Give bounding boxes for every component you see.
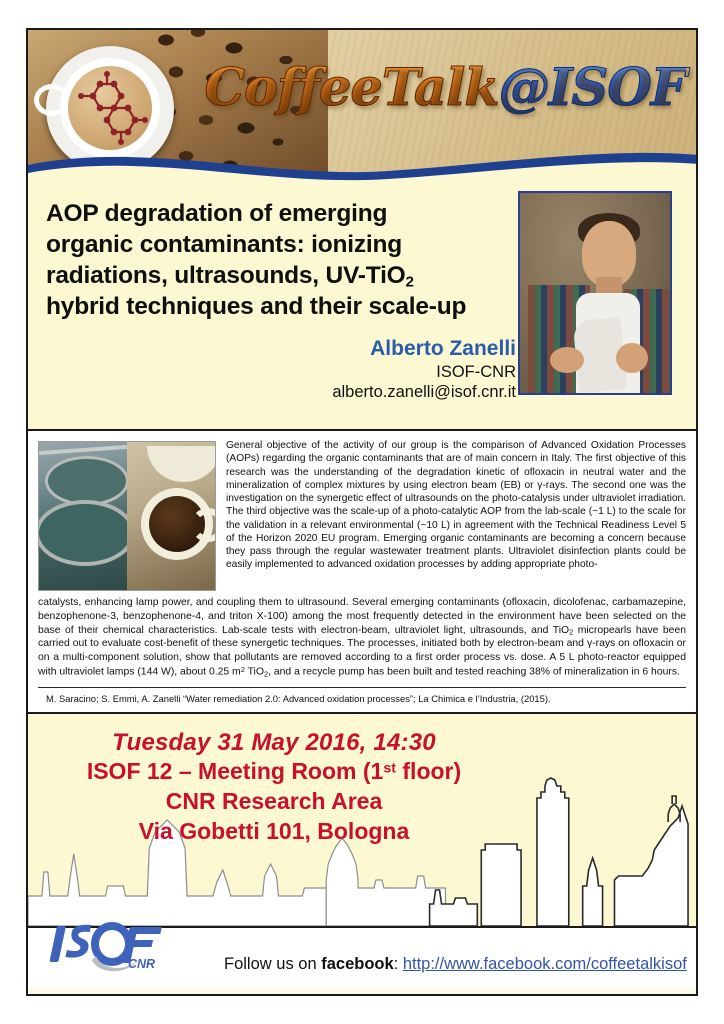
speaker-email[interactable]: alberto.zanelli@isof.cnr.it xyxy=(46,382,516,403)
talk-title: AOP degradation of emerging organic cont… xyxy=(46,199,516,322)
abstract-text-2d: , and a recycle pump has been built and … xyxy=(268,667,680,678)
plant-walkway xyxy=(39,445,127,455)
citation-reference: M. Saracino; S. Emmi, A. Zanelli “Water … xyxy=(38,687,686,708)
header-banner: CoffeeTalk@ISOF xyxy=(28,30,696,185)
speaker-photo xyxy=(518,191,672,395)
abstract-paragraph-2: catalysts, enhancing lamp power, and cou… xyxy=(38,595,686,680)
coffee-cup-photo-small xyxy=(127,442,215,590)
poster: CoffeeTalk@ISOF AOP degradation of emerg… xyxy=(26,28,698,996)
plant-tank-lower xyxy=(38,500,135,566)
event-address: Via Gobetti 101, Bologna xyxy=(28,817,520,847)
footer: CNR Follow us on facebook: http://www.fa… xyxy=(28,926,696,988)
coffeetalk-isof-logo: CoffeeTalk@ISOF xyxy=(204,58,686,118)
plant-tank-upper xyxy=(45,456,129,506)
event-text-block: Tuesday 31 May 2016, 14:30 ISOF 12 – Mee… xyxy=(28,714,520,847)
title-subscript: 2 xyxy=(406,273,414,290)
event-room-b: floor) xyxy=(396,758,461,784)
logo-coffeetalk-text: CoffeeTalk xyxy=(204,58,498,118)
follow-colon: : xyxy=(394,955,403,973)
facebook-word: facebook xyxy=(321,955,393,973)
speaker-block: Alberto Zanelli ISOF-CNR alberto.zanelli… xyxy=(46,336,524,403)
photo-right-hand xyxy=(616,343,648,373)
event-details-section: Tuesday 31 May 2016, 14:30 ISOF 12 – Mee… xyxy=(28,712,696,926)
title-line-2: organic contaminants: ionizing xyxy=(46,231,402,258)
follow-prefix: Follow us on xyxy=(224,955,321,973)
event-room: ISOF 12 – Meeting Room (1st floor) xyxy=(28,757,520,787)
wave-divider xyxy=(28,145,696,185)
speaker-name: Alberto Zanelli xyxy=(46,336,516,361)
event-area: CNR Research Area xyxy=(28,787,520,817)
facebook-follow-line: Follow us on facebook: http://www.facebo… xyxy=(224,955,687,974)
title-line-4: hybrid techniques and their scale-up xyxy=(46,293,466,320)
facebook-url-link[interactable]: http://www.facebook.com/coffeetalkisof xyxy=(403,955,687,973)
small-cup-top xyxy=(147,446,216,482)
abstract-photo xyxy=(38,441,216,591)
title-block: AOP degradation of emerging organic cont… xyxy=(28,185,696,429)
title-line-3: radiations, ultrasounds, UV-TiO xyxy=(46,262,406,289)
event-room-ordinal: st xyxy=(383,760,396,776)
speaker-affiliation: ISOF-CNR xyxy=(46,362,516,383)
event-room-a: ISOF 12 – Meeting Room (1 xyxy=(87,758,384,784)
title-line-1: AOP degradation of emerging xyxy=(46,200,387,227)
event-date: Tuesday 31 May 2016, 14:30 xyxy=(28,728,520,757)
abstract-section: General objective of the activity of our… xyxy=(28,429,696,712)
molecule-latte-art-icon xyxy=(68,66,152,150)
logo-isof-text: @ISOF xyxy=(499,58,686,118)
wastewater-plant-photo xyxy=(39,442,127,590)
photo-left-hand xyxy=(550,347,584,373)
abstract-text-2c: TiO xyxy=(245,667,264,678)
isof-logo-cnr-text: CNR xyxy=(128,957,155,971)
isof-cnr-logo: CNR xyxy=(40,912,172,982)
cup-handle-shape xyxy=(34,84,70,116)
